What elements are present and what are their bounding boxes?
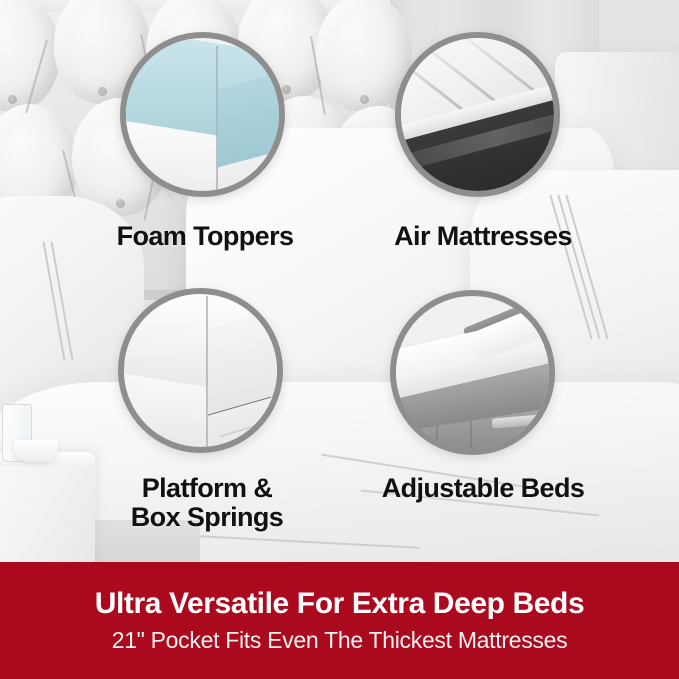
platform-illustration (124, 294, 277, 447)
feature-label-air-mattresses: Air Mattresses (338, 222, 628, 251)
platform-corner-edge (206, 296, 208, 447)
bottom-banner: Ultra Versatile For Extra Deep Beds 21" … (0, 562, 679, 679)
feature-circle-foam-toppers (120, 32, 285, 197)
decor-bowl (14, 440, 58, 462)
foam-corner-edge (216, 46, 218, 191)
air-mattress-illustration (401, 38, 554, 191)
feature-circle-platform-box-springs (118, 288, 283, 453)
feature-label-platform-box-springs: Platform & Box Springs (62, 474, 352, 532)
feature-label-foam-toppers: Foam Toppers (60, 222, 350, 251)
banner-subtitle: 21" Pocket Fits Even The Thickest Mattre… (112, 627, 568, 654)
foam-topper-illustration (126, 38, 279, 191)
infographic-canvas: Foam Toppers Air Mattresses Platform & B… (0, 0, 679, 679)
feature-label-adjustable-beds: Adjustable Beds (338, 474, 628, 503)
feature-circle-air-mattresses (395, 32, 560, 197)
adjustable-bed-illustration (396, 296, 549, 449)
banner-title: Ultra Versatile For Extra Deep Beds (95, 587, 585, 621)
feature-circle-adjustable-beds (390, 290, 555, 455)
